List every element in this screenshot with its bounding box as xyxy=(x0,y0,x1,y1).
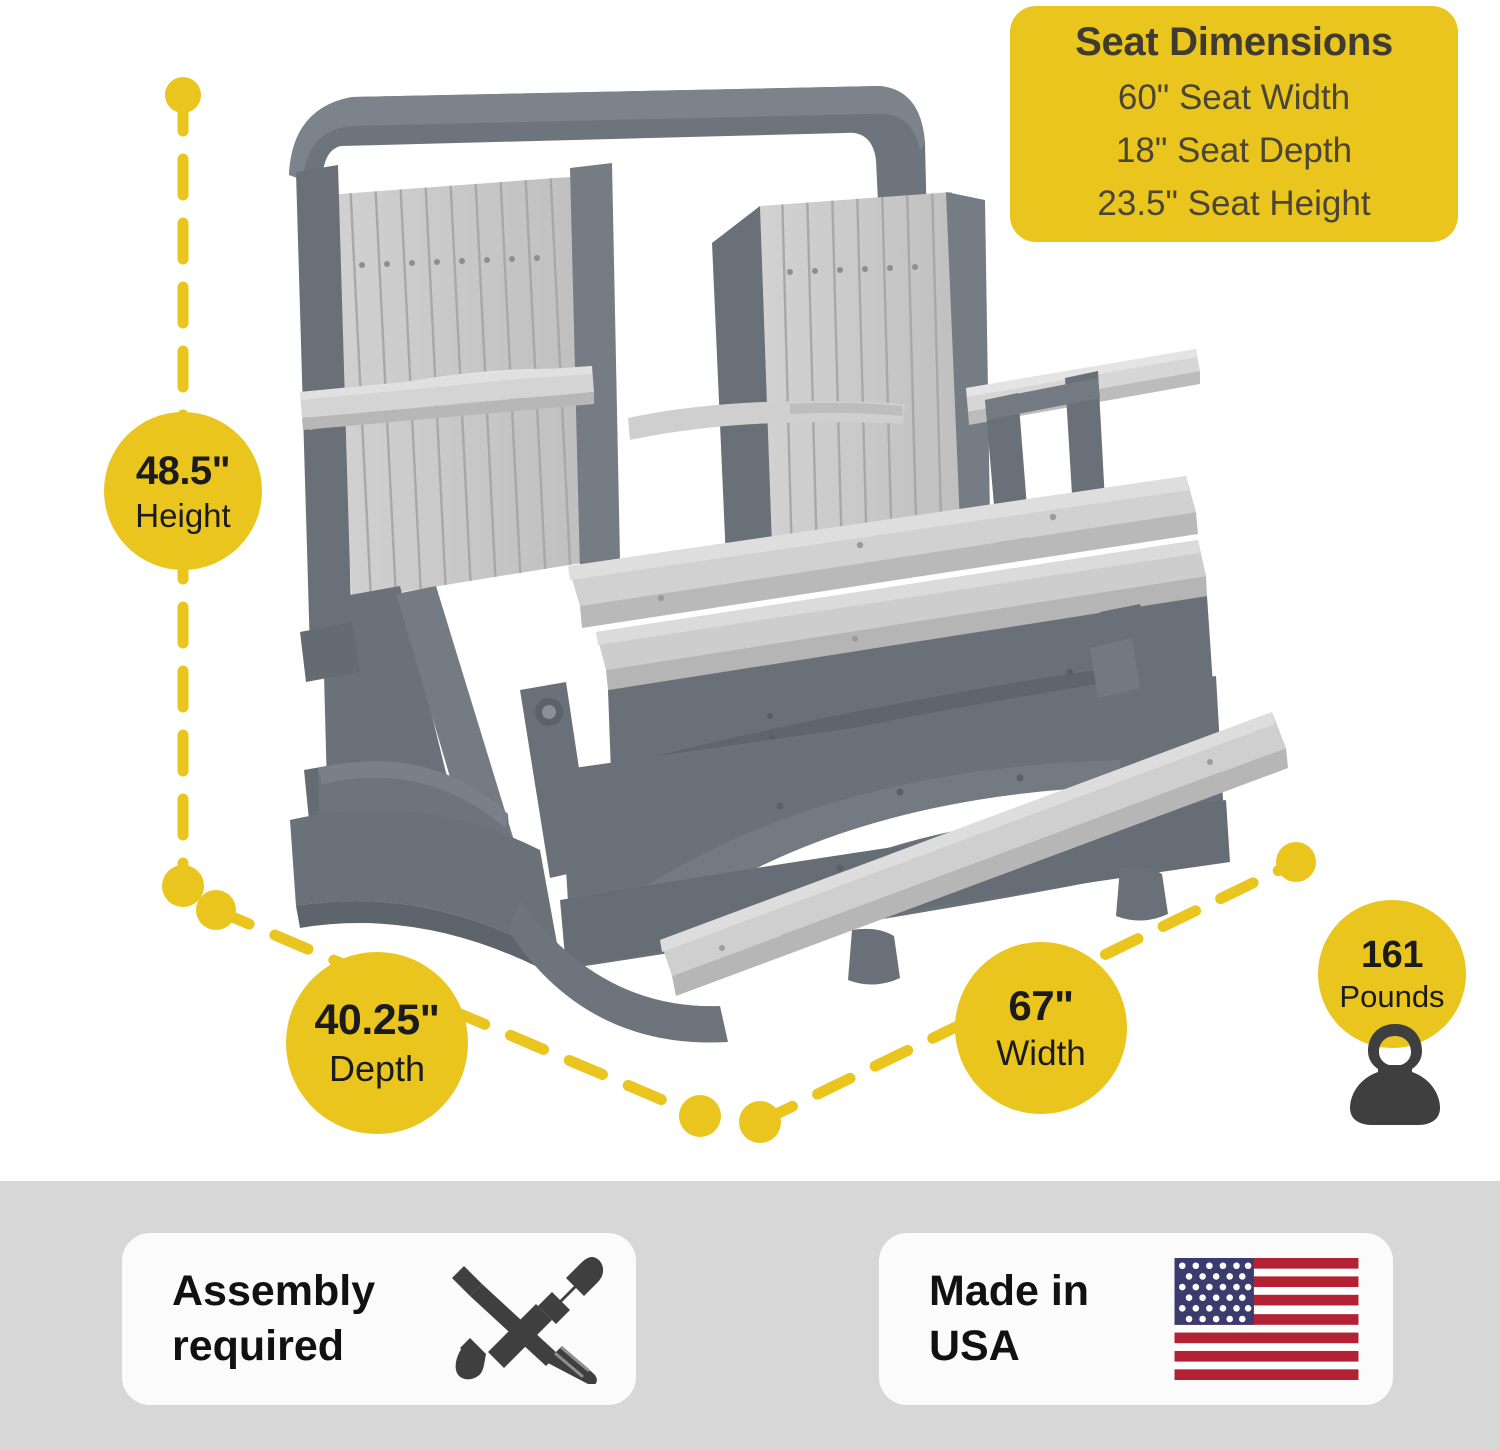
usa-flag-icon xyxy=(1174,1258,1359,1380)
seat-dimension-height: 23.5" Seat Height xyxy=(1097,184,1370,224)
weight-value: 161 xyxy=(1361,936,1423,974)
width-line-end-dot xyxy=(1276,842,1316,882)
assembly-line-2: required xyxy=(172,1319,375,1374)
width-callout: 67" Width xyxy=(955,942,1127,1114)
seat-dimension-width: 60" Seat Width xyxy=(1118,78,1350,118)
height-line-top-dot xyxy=(165,77,201,113)
made-in-usa-text: Made in USA xyxy=(929,1264,1089,1374)
infographic-canvas: Seat Dimensions 60" Seat Width 18" Seat … xyxy=(0,0,1500,1450)
assembly-line-1: Assembly xyxy=(172,1264,375,1319)
height-callout: 48.5" Height xyxy=(104,412,262,570)
made-in-usa-line-2: USA xyxy=(929,1319,1089,1374)
depth-line-start-dot xyxy=(196,890,236,930)
seat-dimensions-panel: Seat Dimensions 60" Seat Width 18" Seat … xyxy=(1010,6,1458,242)
tools-icon xyxy=(440,1254,610,1384)
width-label: Width xyxy=(996,1036,1085,1071)
assembly-required-badge: Assembly required xyxy=(122,1233,636,1405)
width-line-start-dot xyxy=(739,1101,781,1143)
height-value: 48.5" xyxy=(136,451,230,491)
weight-label: Pounds xyxy=(1339,981,1444,1012)
seat-dimension-depth: 18" Seat Depth xyxy=(1116,131,1352,171)
kettlebell-icon xyxy=(1348,1020,1442,1128)
height-label: Height xyxy=(135,499,230,532)
made-in-usa-line-1: Made in xyxy=(929,1264,1089,1319)
depth-value: 40.25" xyxy=(315,999,440,1042)
depth-line-end-dot xyxy=(679,1095,721,1137)
left-side-frame xyxy=(290,586,594,982)
width-value: 67" xyxy=(1008,985,1073,1027)
height-line-bottom-dot xyxy=(162,865,204,907)
depth-callout: 40.25" Depth xyxy=(286,952,468,1134)
assembly-required-text: Assembly required xyxy=(172,1264,375,1374)
seat-dimensions-title: Seat Dimensions xyxy=(1075,20,1393,65)
made-in-usa-badge: Made in USA xyxy=(879,1233,1393,1405)
depth-label: Depth xyxy=(329,1051,425,1087)
